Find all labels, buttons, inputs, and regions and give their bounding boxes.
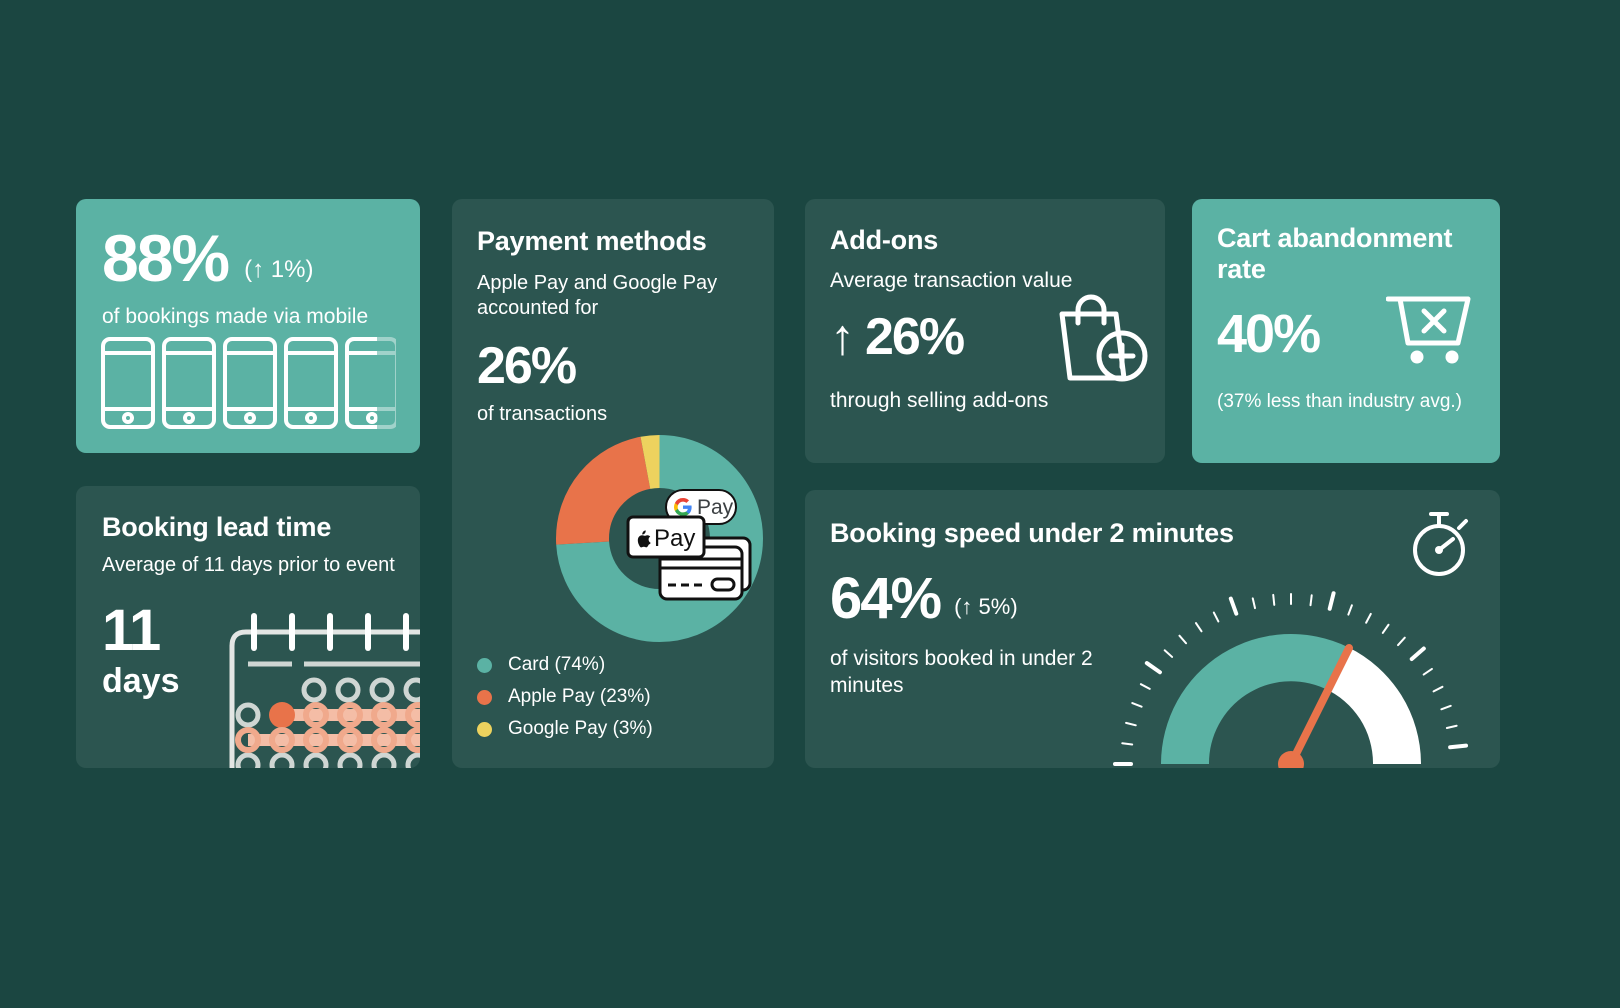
infographic-canvas: 88% (↑ 1%) of bookings made via mobile — [0, 0, 1620, 1008]
speed-stat-row: 64% (↑ 5%) — [830, 570, 1018, 628]
speed-caption: of visitors booked in under 2 minutes — [830, 645, 1120, 700]
payment-donut-chart: Pay Pay — [556, 435, 763, 647]
arrow-up-icon: ↑ — [830, 312, 855, 362]
card-booking-speed: Booking speed under 2 minutes 64% (↑ 5%)… — [805, 490, 1500, 768]
legend-item-google-pay: Google Pay (3%) — [477, 713, 653, 745]
legend-dot-card — [477, 658, 492, 673]
payment-caption: of transactions — [477, 403, 607, 426]
legend-label-google-pay: Google Pay (3%) — [508, 718, 653, 740]
speed-value: 64% — [830, 570, 940, 628]
card-payment-methods: Payment methods Apple Pay and Google Pay… — [452, 199, 774, 768]
legend-item-card: Card (74%) — [477, 649, 653, 681]
svg-text:Pay: Pay — [697, 496, 734, 519]
addons-subtitle: Average transaction value — [830, 268, 1072, 294]
payment-subtitle: Apple Pay and Google Pay accounted for — [477, 271, 737, 321]
speed-delta: (↑ 5%) — [954, 596, 1018, 618]
addons-value: 26% — [865, 311, 963, 363]
card-add-ons: Add-ons Average transaction value ↑ 26% … — [805, 199, 1165, 463]
mobile-stat-row: 88% (↑ 1%) — [102, 225, 313, 291]
calendar-icon — [206, 598, 420, 768]
cart-value: 40% — [1217, 307, 1319, 361]
card-booking-lead-time: Booking lead time Average of 11 days pri… — [76, 486, 420, 768]
lead-time-subtitle: Average of 11 days prior to event — [102, 553, 395, 578]
card-cart-abandonment: Cart abandonment rate 40% (37% less than… — [1192, 199, 1500, 463]
mobile-stat-delta: (↑ 1%) — [244, 258, 313, 282]
legend-label-apple-pay: Apple Pay (23%) — [508, 686, 651, 708]
cart-title: Cart abandonment rate — [1217, 223, 1467, 285]
cart-remove-icon — [1386, 291, 1472, 372]
lead-time-stat: 11 days — [102, 602, 180, 701]
payment-legend: Card (74%) Apple Pay (23%) Google Pay (3… — [477, 649, 653, 745]
cart-caption: (37% less than industry avg.) — [1217, 391, 1462, 413]
svg-text:Pay: Pay — [654, 525, 695, 552]
legend-dot-apple-pay — [477, 690, 492, 705]
mobile-stat-value: 88% — [102, 225, 228, 291]
addons-stat-row: ↑ 26% — [830, 311, 963, 363]
lead-time-unit: days — [102, 662, 180, 701]
legend-label-card: Card (74%) — [508, 654, 605, 676]
addons-caption: through selling add-ons — [830, 389, 1048, 413]
addons-title: Add-ons — [830, 225, 938, 256]
legend-item-apple-pay: Apple Pay (23%) — [477, 681, 653, 713]
shopping-bag-plus-icon — [1052, 288, 1148, 393]
booking-speed-gauge — [1105, 578, 1477, 768]
mobile-stat-caption: of bookings made via mobile — [102, 304, 368, 330]
apple-pay-icon: Pay — [628, 517, 704, 557]
stopwatch-icon — [1403, 508, 1475, 585]
speed-title: Booking speed under 2 minutes — [830, 518, 1234, 549]
lead-time-value: 11 — [102, 602, 180, 660]
payment-title: Payment methods — [477, 226, 707, 257]
payment-value: 26% — [477, 340, 575, 392]
mobile-phone-icon — [101, 337, 396, 434]
card-mobile-bookings: 88% (↑ 1%) of bookings made via mobile — [76, 199, 420, 453]
lead-time-title: Booking lead time — [102, 512, 331, 543]
legend-dot-google-pay — [477, 722, 492, 737]
